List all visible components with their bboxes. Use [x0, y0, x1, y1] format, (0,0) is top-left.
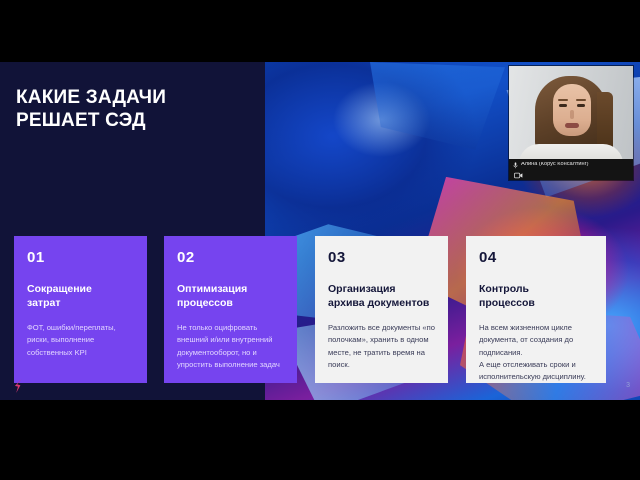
participant-eyebrow-right	[576, 99, 586, 101]
video-control-bar[interactable]	[509, 170, 633, 180]
task-card-02: 02 Оптимизацияпроцессов Не только оцифро…	[164, 236, 297, 383]
slide-page-number: 3	[626, 382, 630, 389]
participant-nose	[570, 110, 574, 119]
card-body: Не только оцифровать внешний и/или внутр…	[177, 322, 284, 371]
slide-title-line-2: РЕШАЕТ СЭД	[16, 109, 262, 132]
participant-eyebrow-left	[558, 99, 568, 101]
participant-name-label: Алина (Корус Консалтинг)	[521, 162, 589, 168]
card-body: Разложить все документы «по полочкам», х…	[328, 322, 435, 371]
card-number: 03	[328, 250, 435, 265]
participant-video-feed[interactable]	[509, 66, 633, 159]
korus-logo-mark-icon	[14, 379, 24, 393]
card-number: 04	[479, 250, 593, 265]
participant-name-bar: Алина (Корус Консалтинг)	[509, 159, 633, 170]
participant-video-panel[interactable]: Алина (Корус Консалтинг)	[509, 66, 633, 180]
slide-title-line-1: КАКИЕ ЗАДАЧИ	[16, 86, 262, 109]
card-body: На всем жизненном цикле документа, от со…	[479, 322, 593, 383]
participant-eye-right	[577, 104, 585, 107]
participant-mouth	[565, 123, 579, 128]
task-card-04: 04 Контрольпроцессов На всем жизненном ц…	[466, 236, 606, 383]
video-camera-icon[interactable]	[514, 166, 523, 180]
card-number: 01	[27, 250, 134, 265]
participant-shoulders	[519, 144, 623, 159]
screen-capture: КАКИЕ ЗАДАЧИ РЕШАЕТ СЭД 01 Сокращениезат…	[0, 0, 640, 480]
slide-title: КАКИЕ ЗАДАЧИ РЕШАЕТ СЭД	[16, 86, 262, 132]
task-card-01: 01 Сокращениезатрат ФОТ, ошибки/переплат…	[14, 236, 147, 383]
participant-eye-left	[559, 104, 567, 107]
card-heading: Сокращениезатрат	[27, 282, 134, 311]
card-number: 02	[177, 250, 284, 265]
card-heading: Контрольпроцессов	[479, 282, 593, 311]
card-heading: Оптимизацияпроцессов	[177, 282, 284, 311]
card-body: ФОТ, ошибки/переплаты, риски, выполнение…	[27, 322, 134, 359]
card-heading: Организацияархива документов	[328, 282, 435, 311]
task-card-03: 03 Организацияархива документов Разложит…	[315, 236, 448, 383]
